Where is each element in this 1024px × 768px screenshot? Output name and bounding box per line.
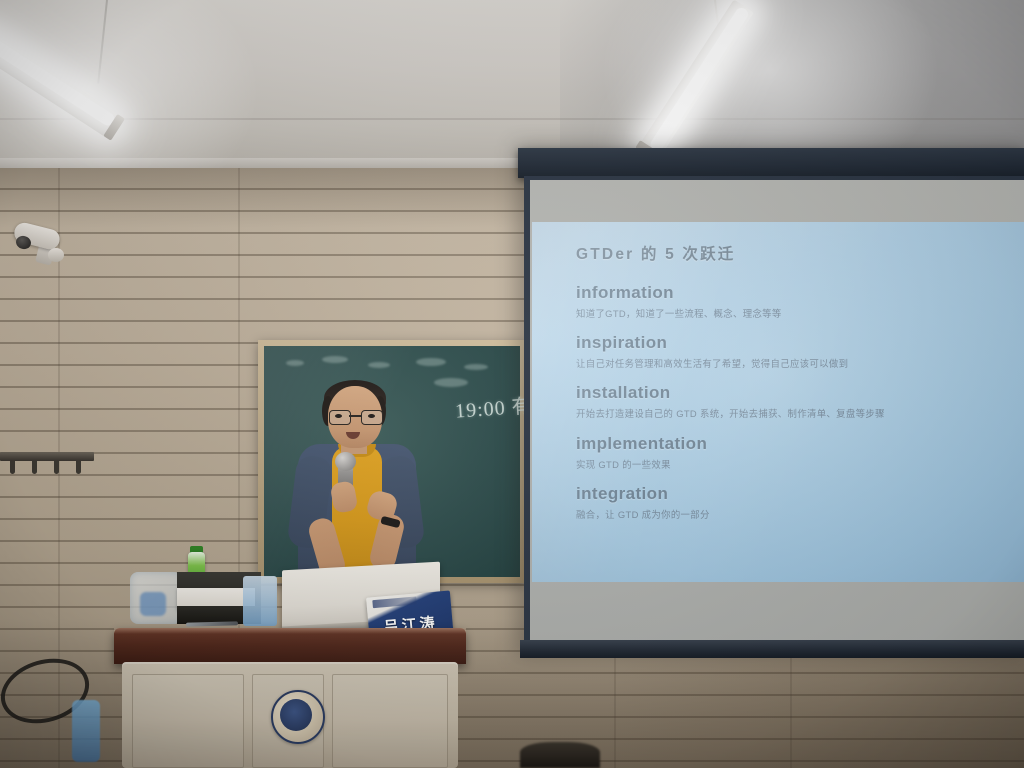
coat-hook bbox=[32, 461, 37, 474]
podium-panel bbox=[332, 674, 448, 768]
microphone-head bbox=[335, 452, 356, 471]
university-emblem-icon bbox=[271, 690, 325, 744]
coat-hook-rail bbox=[0, 452, 94, 461]
chalk-smudge bbox=[434, 378, 468, 387]
speaker-eye bbox=[368, 414, 375, 418]
chalk-smudge bbox=[416, 358, 446, 366]
podium-panel bbox=[132, 674, 244, 768]
chalk-smudge bbox=[368, 362, 390, 368]
dark-object-foreground bbox=[520, 742, 600, 768]
speaker-eye bbox=[335, 414, 342, 418]
chalk-smudge bbox=[322, 356, 348, 363]
ceiling-seam bbox=[0, 118, 1024, 120]
security-camera-icon bbox=[8, 222, 70, 268]
blue-object bbox=[243, 576, 277, 626]
speaker-presenter bbox=[288, 378, 428, 578]
glasses-icon bbox=[328, 410, 382, 423]
blue-bag-on-floor bbox=[72, 700, 100, 762]
coat-hook bbox=[76, 461, 81, 474]
emblem-inner bbox=[280, 699, 312, 731]
coat-hook bbox=[54, 461, 59, 474]
projector-screen-casing bbox=[518, 148, 1024, 178]
podium-top-highlight bbox=[114, 628, 466, 634]
coat-hook bbox=[10, 461, 15, 474]
plastic-bag-contents bbox=[140, 592, 166, 616]
chalk-smudge bbox=[464, 364, 488, 370]
slide-vignette bbox=[532, 222, 1024, 582]
podium-body bbox=[122, 662, 458, 768]
glasses-bridge bbox=[349, 415, 361, 417]
camera-mount bbox=[48, 248, 64, 262]
projector-screen-weight-bar bbox=[520, 640, 1024, 658]
podium-tabletop bbox=[114, 628, 466, 664]
lecture-hall-photo: 19:00 有 GTDer 的 5 次跃迁 bbox=[0, 0, 1024, 768]
chalk-smudge bbox=[286, 360, 304, 366]
presentation-slide: GTDer 的 5 次跃迁 information 知道了GTD，知道了一些流程… bbox=[532, 222, 1024, 582]
